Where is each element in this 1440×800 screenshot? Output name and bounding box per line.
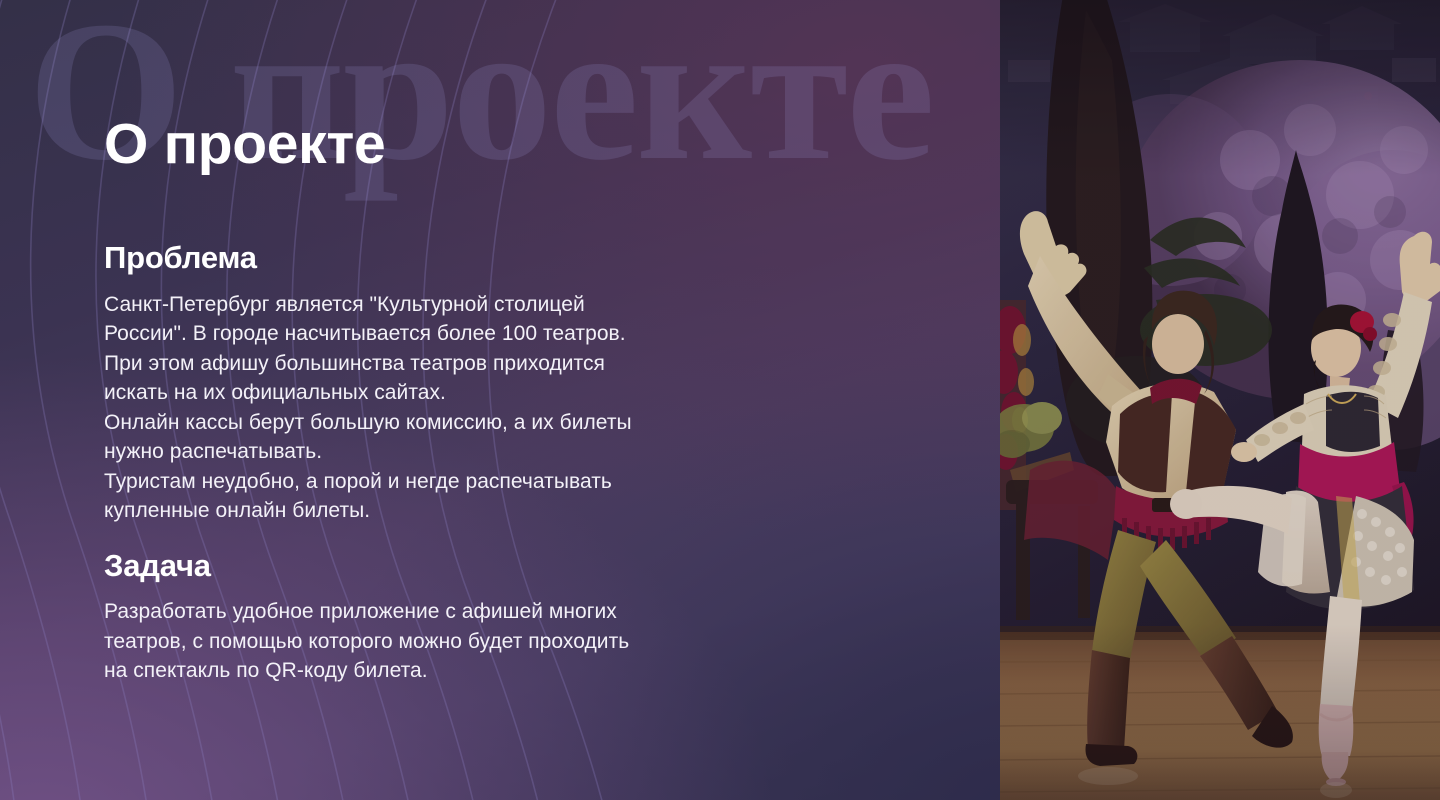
section-problem: Проблема Санкт-Петербург является "Культ…: [104, 240, 784, 526]
section-body-problem: Санкт-Петербург является "Культурной сто…: [104, 290, 784, 526]
body-block: Проблема Санкт-Петербург является "Культ…: [104, 240, 784, 686]
slide-about-project: О проекте О проекте Проблема Санкт-Петер…: [0, 0, 1440, 800]
section-body-task: Разработать удобное приложение с афишей …: [104, 597, 784, 686]
section-heading-task: Задача: [104, 548, 784, 584]
section-heading-problem: Проблема: [104, 240, 784, 276]
section-task: Задача Разработать удобное приложение с …: [104, 548, 784, 686]
page-title: О проекте: [104, 116, 385, 173]
content-panel: О проекте О проекте Проблема Санкт-Петер…: [0, 0, 1000, 800]
ballet-performance-photo: [1000, 0, 1440, 800]
